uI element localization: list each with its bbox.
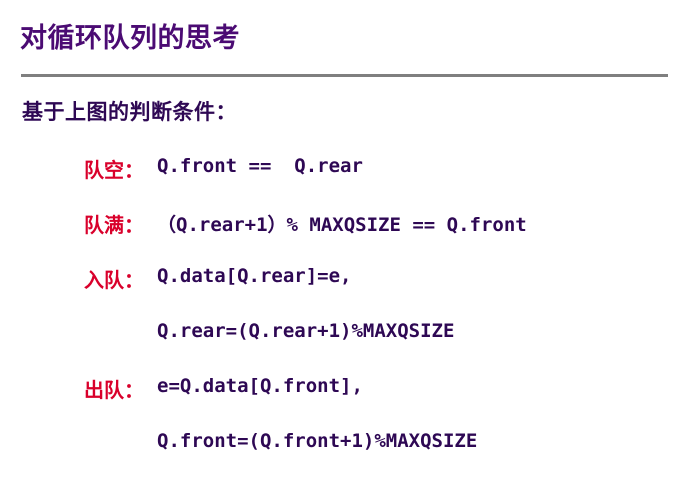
slide-canvas: 对循环队列的思考 基于上图的判断条件： 队空： Q.front == Q.rea… <box>0 0 677 481</box>
operation-code-enqueue: Q.data[Q.rear]=e, <box>157 265 351 287</box>
condition-label-empty: 队空： <box>84 154 144 183</box>
condition-label-full: 队满： <box>84 209 144 238</box>
operation-code-dequeue: e=Q.data[Q.front], <box>157 375 363 397</box>
operation-row-enqueue: 入队： Q.data[Q.rear]=e, <box>0 264 677 296</box>
operation-code-dequeue-cont: Q.front=(Q.front+1)%MAXQSIZE <box>157 430 477 452</box>
condition-row-full: 队满： （Q.rear+1）% MAXQSIZE == Q.front <box>0 209 677 241</box>
title-divider <box>21 74 668 77</box>
operation-label-enqueue: 入队： <box>84 264 144 293</box>
page-title: 对循环队列的思考 <box>20 24 240 54</box>
lead-text: 基于上图的判断条件： <box>22 96 237 126</box>
condition-row-empty: 队空： Q.front == Q.rear <box>0 154 677 186</box>
operation-row-dequeue: 出队： e=Q.data[Q.front], <box>0 374 677 406</box>
operation-code-enqueue-cont: Q.rear=(Q.rear+1)%MAXQSIZE <box>157 320 454 342</box>
operation-row-dequeue-cont: Q.front=(Q.front+1)%MAXQSIZE <box>0 429 677 461</box>
operation-row-enqueue-cont: Q.rear=(Q.rear+1)%MAXQSIZE <box>0 319 677 351</box>
condition-code-empty: Q.front == Q.rear <box>157 155 363 177</box>
condition-code-full: （Q.rear+1）% MAXQSIZE == Q.front <box>157 210 527 237</box>
operation-label-dequeue: 出队： <box>84 374 144 403</box>
